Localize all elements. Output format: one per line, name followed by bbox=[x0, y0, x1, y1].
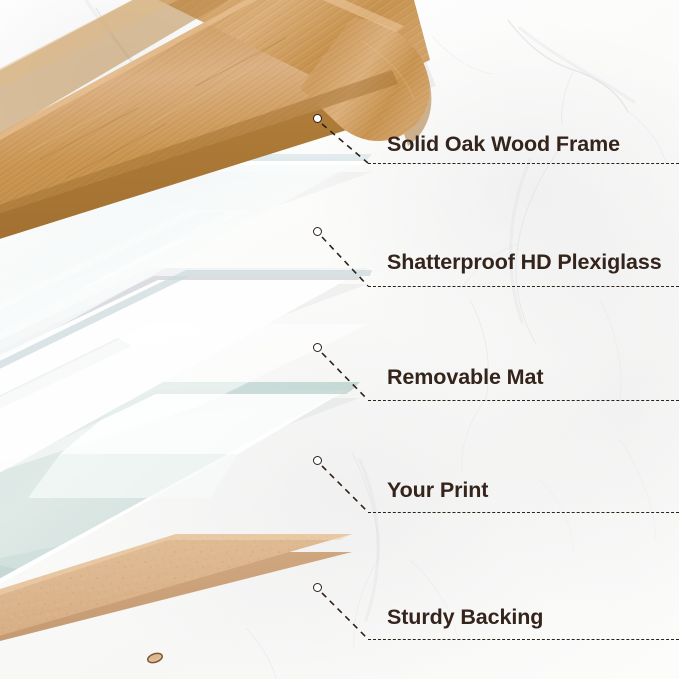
callout-label-sturdy-backing: Sturdy Backing bbox=[387, 607, 543, 629]
infographic-canvas: Solid Oak Wood Frame Shatterproof HD Ple… bbox=[0, 0, 679, 679]
leader-line-sturdy-backing bbox=[0, 0, 679, 679]
callout-rule-sturdy-backing bbox=[368, 639, 679, 640]
